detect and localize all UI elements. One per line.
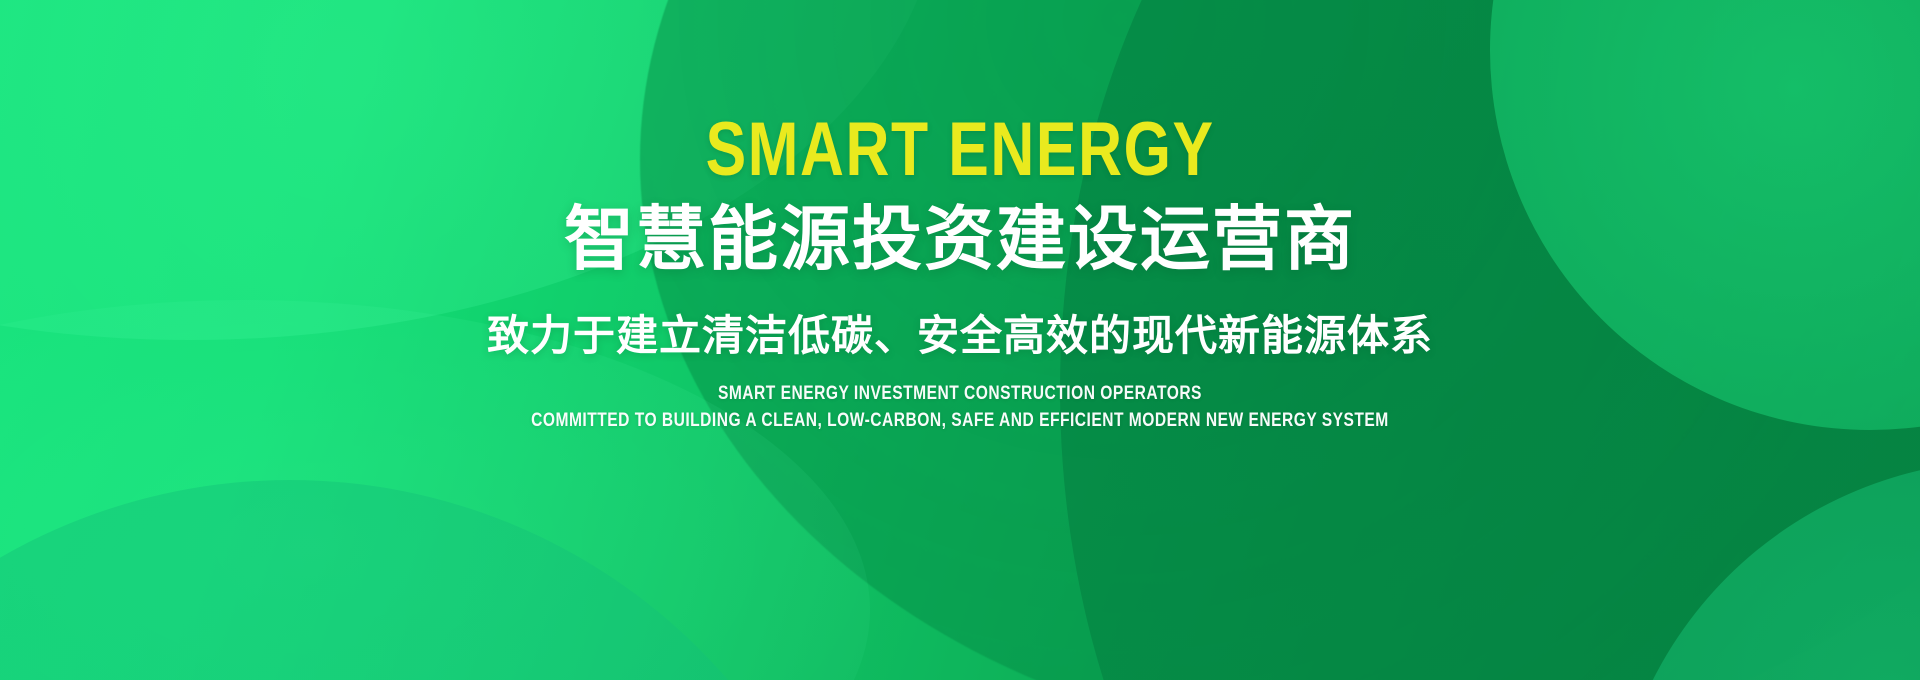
hero-banner: SMART ENERGY 智慧能源投资建设运营商 致力于建立清洁低碳、安全高效的… (0, 0, 1920, 680)
headline-english: SMART ENERGY (705, 112, 1214, 188)
subheadline-chinese: 致力于建立清洁低碳、安全高效的现代新能源体系 (487, 312, 1433, 360)
subheadline-english-line-2: COMMITTED TO BUILDING A CLEAN, LOW-CARBO… (531, 407, 1389, 435)
banner-content: SMART ENERGY 智慧能源投资建设运营商 致力于建立清洁低碳、安全高效的… (0, 0, 1920, 680)
subheadline-english-line-1: SMART ENERGY INVESTMENT CONSTRUCTION OPE… (531, 380, 1389, 408)
subheadline-english-group: SMART ENERGY INVESTMENT CONSTRUCTION OPE… (437, 380, 1483, 435)
headline-chinese: 智慧能源投资建设运营商 (564, 202, 1356, 278)
